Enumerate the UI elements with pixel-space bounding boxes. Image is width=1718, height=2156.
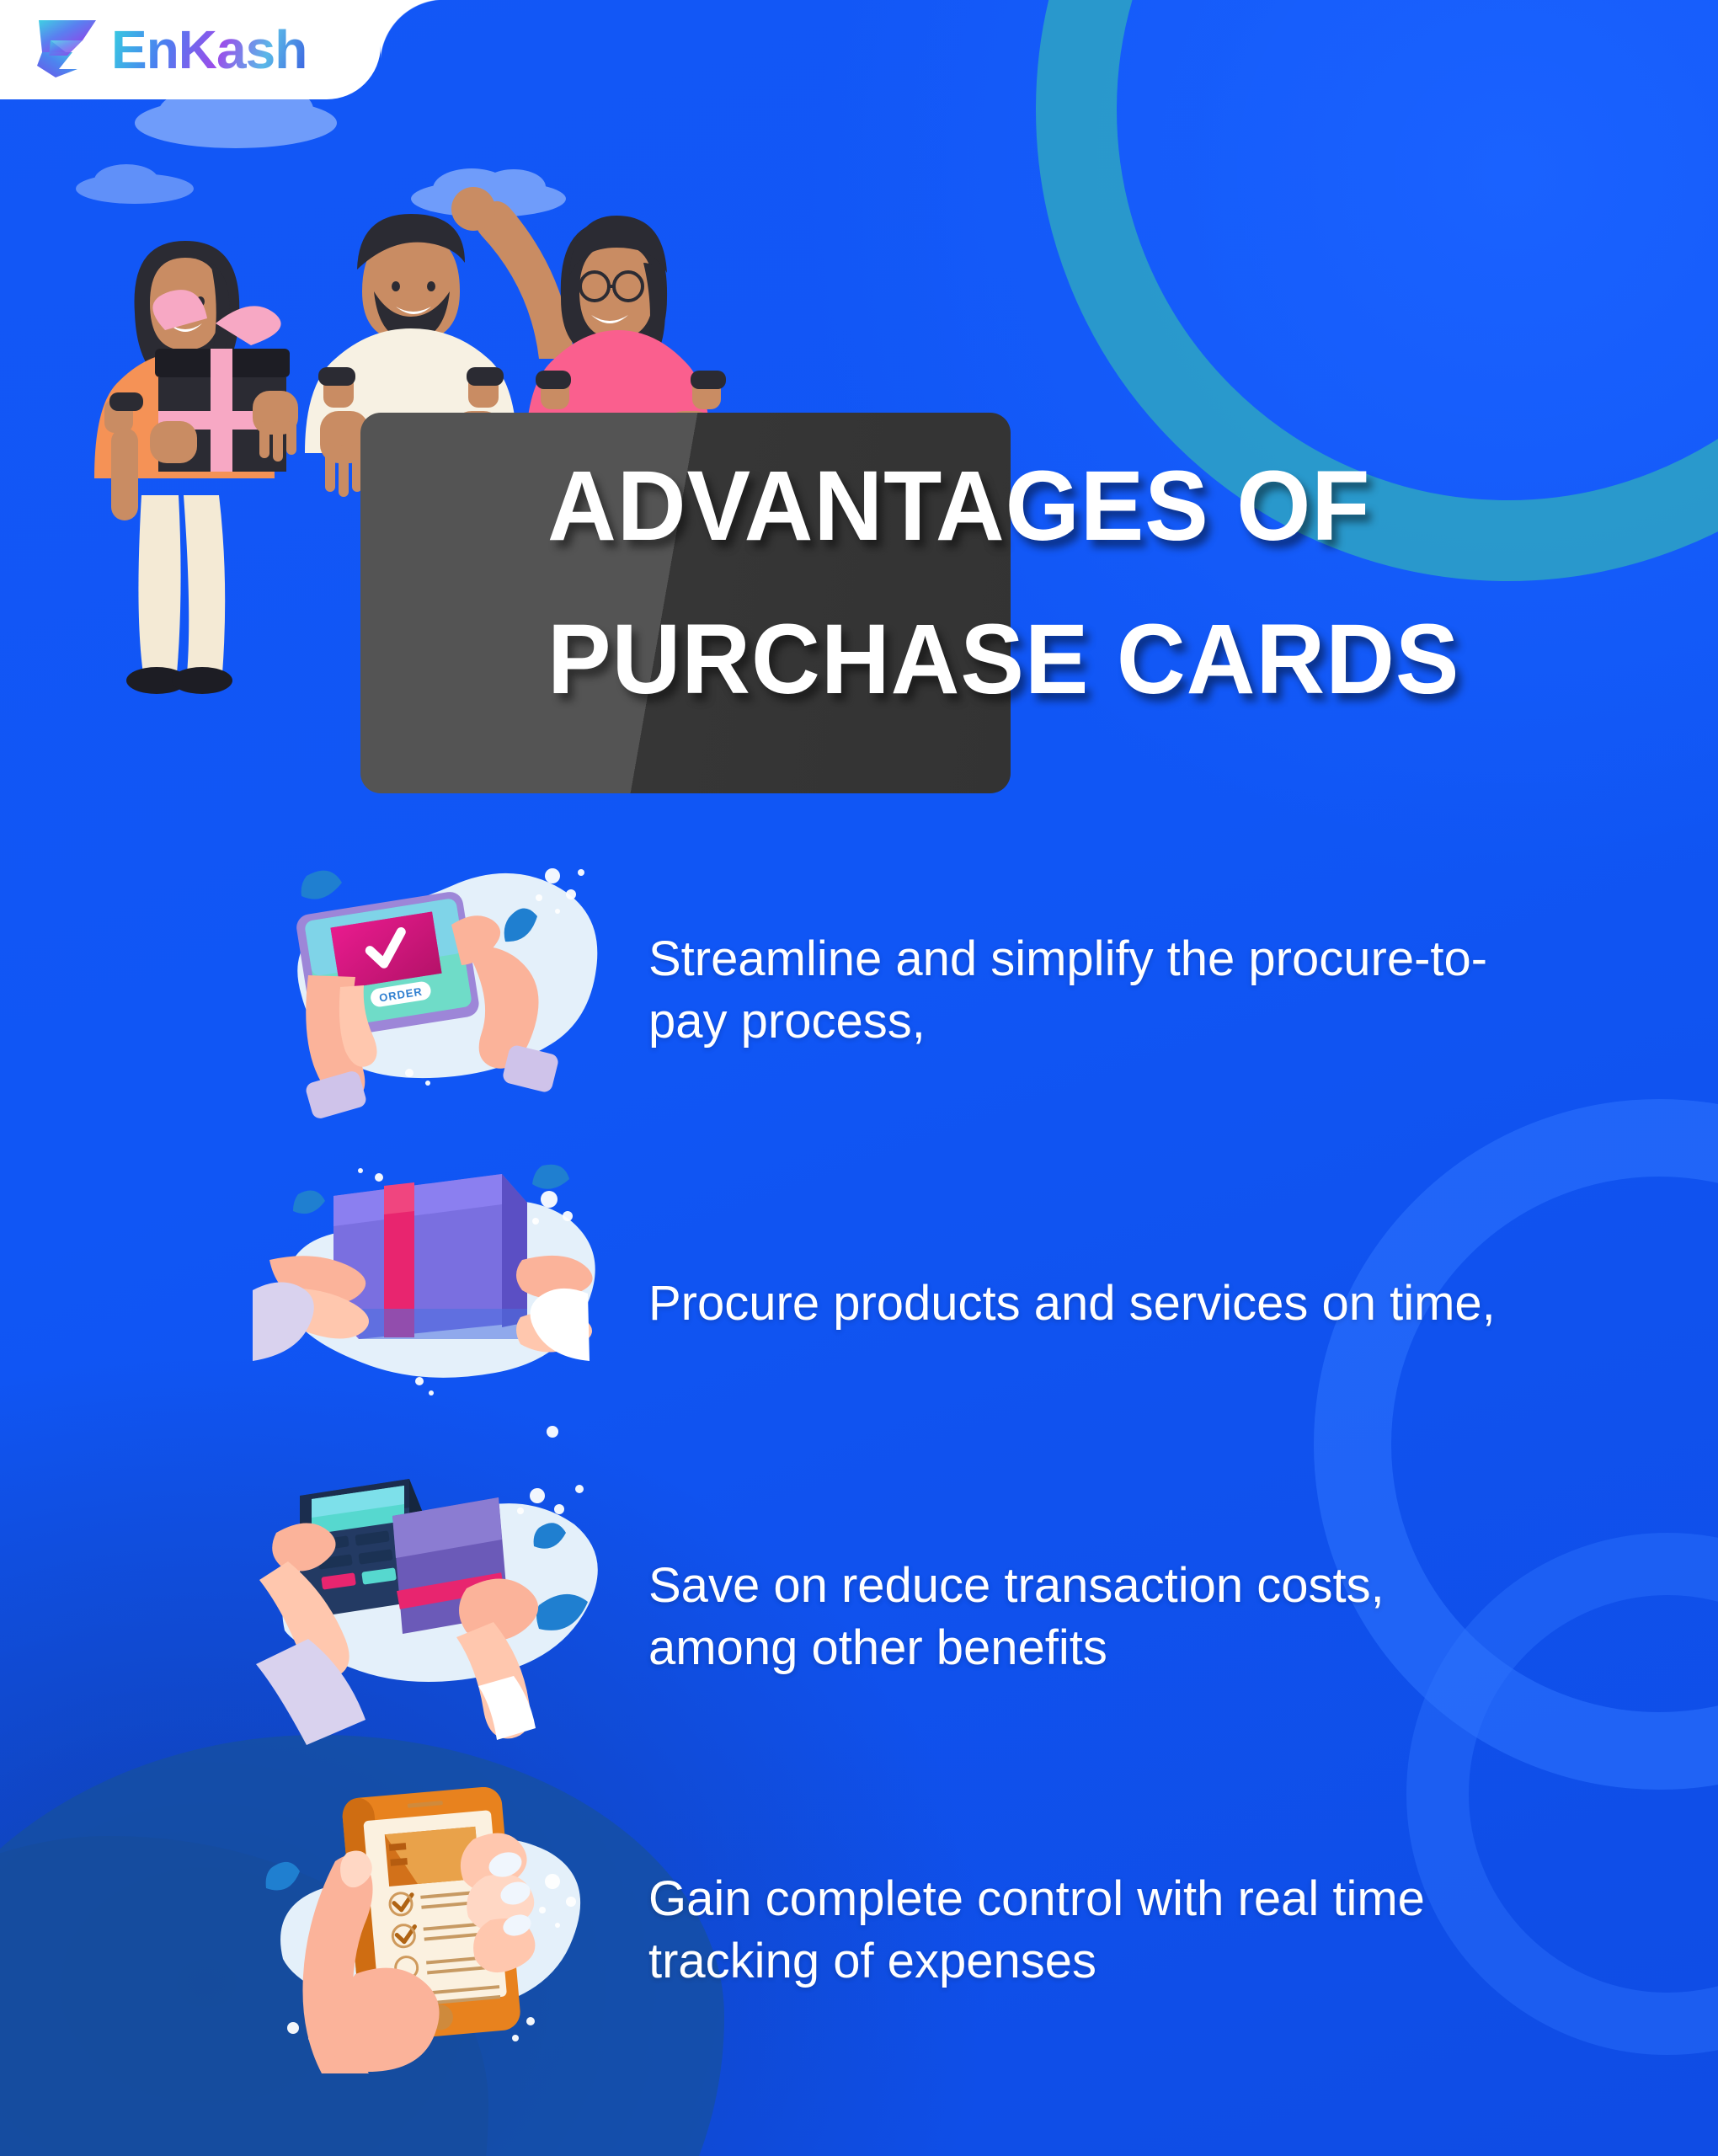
tablet-order-checkmark-icon: ORDER xyxy=(253,847,606,1134)
person-with-gift xyxy=(94,241,298,694)
benefit-item: Gain complete control with real time tra… xyxy=(0,1774,1718,2087)
brand-logo-text: EnKash xyxy=(111,23,307,77)
page-title: Advantages of Purchase Cards xyxy=(547,455,1676,712)
infographic-poster: EnKash xyxy=(0,0,1718,2156)
benefit-item: Procure products and services on time, xyxy=(0,1147,1718,1460)
benefit-item: Save on reduce transaction costs, among … xyxy=(0,1460,1718,1774)
title-line-1: Advantages of xyxy=(547,455,1630,559)
benefit-text: Streamline and simplify the procure-to-p… xyxy=(648,928,1507,1053)
benefit-text: Gain complete control with real time tra… xyxy=(648,1868,1507,1993)
brand-logo-tab: EnKash xyxy=(0,0,381,99)
benefit-item: ORDER Streamline and simplify the procur… xyxy=(0,834,1718,1147)
benefits-list: ORDER Streamline and simplify the procur… xyxy=(0,834,1718,2087)
gift-box-handover-icon xyxy=(253,1161,606,1447)
brand-logo: EnKash xyxy=(34,15,307,85)
enkash-e-mark-icon xyxy=(34,15,106,85)
leaf-icon xyxy=(266,1862,300,1891)
cloud-icon xyxy=(76,164,194,204)
phone-tracking-checklist-icon xyxy=(253,1787,606,2073)
benefit-text: Procure products and services on time, xyxy=(648,1273,1496,1335)
title-line-2: Purchase Cards xyxy=(547,608,1630,712)
benefit-text: Save on reduce transaction costs, among … xyxy=(648,1555,1507,1679)
card-pos-terminal-icon xyxy=(253,1474,606,1760)
